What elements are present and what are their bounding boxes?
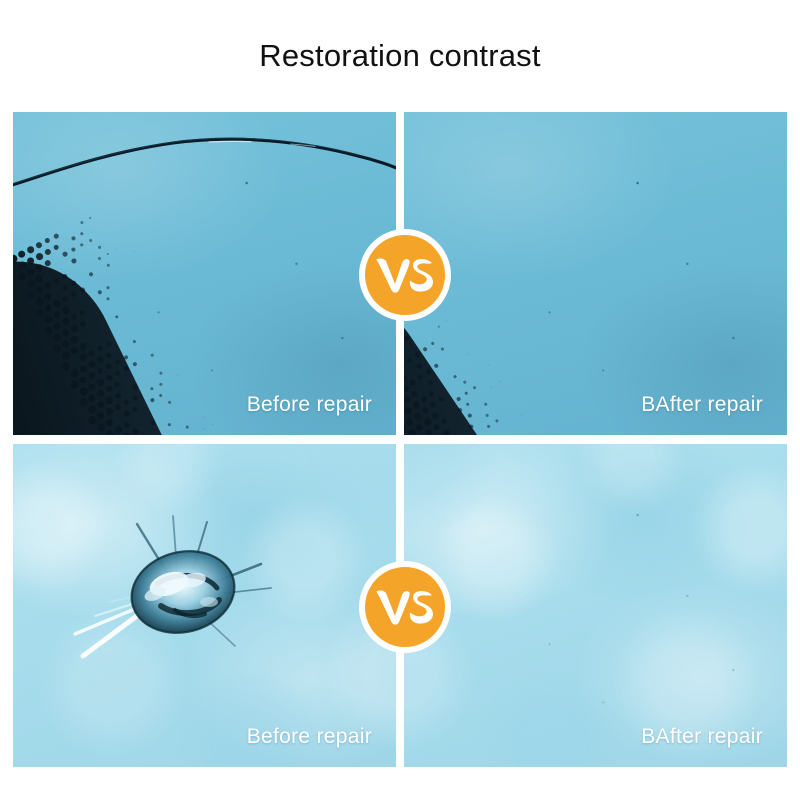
- panel-label-before: Before repair: [247, 725, 372, 749]
- vs-text-icon: [374, 587, 436, 627]
- glass-surface: [13, 444, 396, 767]
- panel-label-before: Before repair: [247, 393, 372, 417]
- glass-surface: [404, 112, 787, 435]
- vs-text-icon: [374, 255, 436, 295]
- panel-label-after: BAfter repair: [641, 393, 763, 417]
- restoration-contrast-board: Restoration contrast Before repair: [0, 0, 800, 800]
- panel-crack-before[interactable]: Before repair: [13, 112, 396, 435]
- vs-badge-bottom: [359, 561, 451, 653]
- panel-crack-after[interactable]: BAfter repair: [404, 112, 787, 435]
- panel-chip-before[interactable]: Before repair: [13, 444, 396, 767]
- page-title: Restoration contrast: [0, 36, 800, 76]
- vs-badge-top: [359, 229, 451, 321]
- comparison-grid: Before repair BAfter repair: [13, 112, 787, 767]
- glass-surface: [13, 112, 396, 435]
- panel-label-after: BAfter repair: [641, 725, 763, 749]
- glass-surface: [404, 444, 787, 767]
- panel-chip-after[interactable]: BAfter repair: [404, 444, 787, 767]
